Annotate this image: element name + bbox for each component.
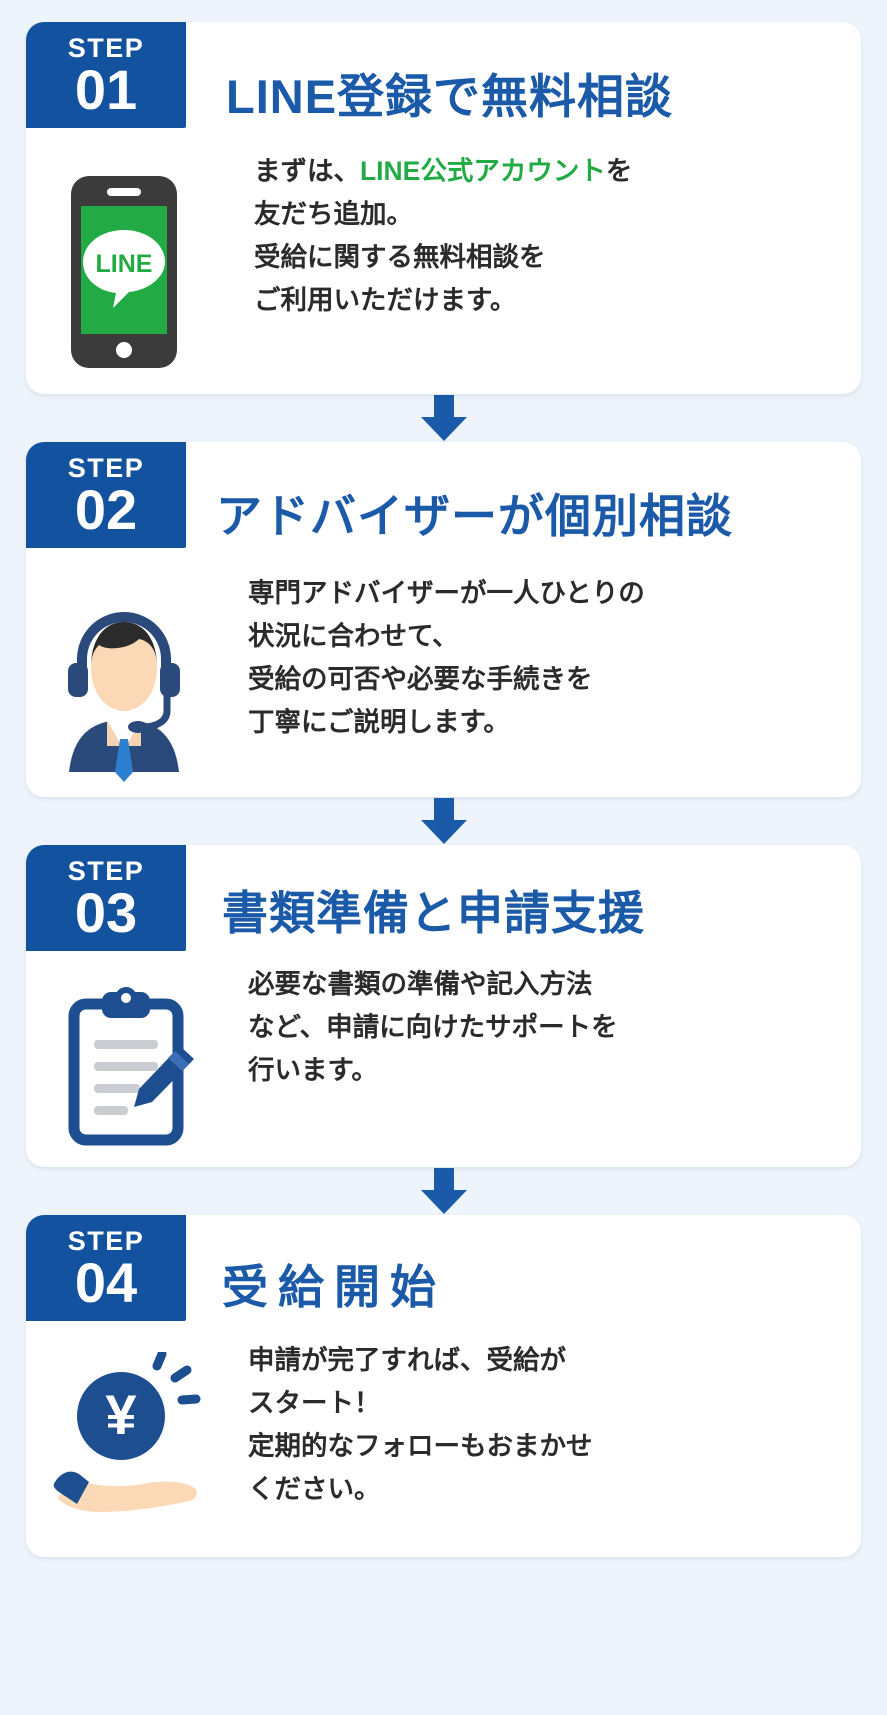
step-badge-number: 01 bbox=[26, 62, 186, 118]
desc-line: ご利用いただけます。 bbox=[254, 279, 632, 322]
headset-advisor-icon bbox=[44, 582, 204, 787]
step-title-3: 書類準備と申請支援 bbox=[222, 877, 645, 943]
step-card-1: STEP 01 LINE登録で無料相談 まずは、LINE公式アカウントを 友だち… bbox=[26, 22, 861, 394]
step-description-4: 申請が完了すれば、受給が スタート！ 定期的なフォローもおまかせ ください。 bbox=[248, 1339, 593, 1511]
steps-flow-diagram: STEP 01 LINE登録で無料相談 まずは、LINE公式アカウントを 友だち… bbox=[0, 0, 887, 1715]
arrow-step1-to-step2 bbox=[26, 394, 861, 442]
step-title-4: 受給開始 bbox=[222, 1251, 446, 1317]
step-title-1: LINE登録で無料相談 bbox=[226, 58, 673, 127]
desc-line: 受給の可否や必要な手続きを bbox=[248, 658, 645, 701]
desc-line: 定期的なフォローもおまかせ bbox=[248, 1425, 593, 1468]
arrow-step3-to-step4 bbox=[26, 1167, 861, 1215]
yen-coin-hand-icon: ¥ bbox=[44, 1347, 214, 1542]
step-title-2: アドバイザーが個別相談 bbox=[216, 480, 733, 546]
desc-line: 申請が完了すれば、受給が bbox=[248, 1339, 593, 1382]
step-badge-2: STEP 02 bbox=[26, 442, 186, 548]
step-description-1: まずは、LINE公式アカウントを 友だち追加。 受給に関する無料相談を ご利用い… bbox=[254, 150, 632, 322]
desc-line: まずは、LINE公式アカウントを bbox=[254, 150, 632, 193]
desc-line: 受給に関する無料相談を bbox=[254, 236, 632, 279]
step-description-2: 専門アドバイザーが一人ひとりの 状況に合わせて、 受給の可否や必要な手続きを 丁… bbox=[248, 572, 645, 744]
arrow-step2-to-step3 bbox=[26, 797, 861, 845]
desc-text: まずは、 bbox=[254, 156, 360, 186]
desc-line: ください。 bbox=[248, 1468, 593, 1511]
svg-text:¥: ¥ bbox=[105, 1383, 136, 1446]
step-card-3: STEP 03 書類準備と申請支援 必要な書類の準備や記入方法 など、申請に向け… bbox=[26, 845, 861, 1167]
desc-line: スタート！ bbox=[248, 1382, 593, 1425]
step-badge-3: STEP 03 bbox=[26, 845, 186, 951]
desc-line: 状況に合わせて、 bbox=[248, 615, 645, 658]
step-description-3: 必要な書類の準備や記入方法 など、申請に向けたサポートを 行います。 bbox=[248, 963, 618, 1092]
step-card-2: STEP 02 アドバイザーが個別相談 専門アドバイザーが一人ひとりの 状況に合… bbox=[26, 442, 861, 797]
step-badge-number: 02 bbox=[26, 482, 186, 538]
step-badge-number: 03 bbox=[26, 885, 186, 941]
desc-line: 専門アドバイザーが一人ひとりの bbox=[248, 572, 645, 615]
desc-line: 丁寧にご説明します。 bbox=[248, 701, 645, 744]
svg-text:LINE: LINE bbox=[96, 250, 153, 278]
desc-line: など、申請に向けたサポートを bbox=[248, 1006, 618, 1049]
desc-text-highlight: LINE公式アカウント bbox=[360, 156, 606, 186]
line-smartphone-icon: LINE bbox=[44, 164, 204, 379]
clipboard-pen-icon bbox=[52, 977, 212, 1157]
step-badge-number: 04 bbox=[26, 1255, 186, 1311]
desc-line: 友だち追加。 bbox=[254, 193, 632, 236]
desc-text: を bbox=[606, 156, 633, 186]
step-badge-1: STEP 01 bbox=[26, 22, 186, 128]
desc-line: 必要な書類の準備や記入方法 bbox=[248, 963, 618, 1006]
step-badge-4: STEP 04 bbox=[26, 1215, 186, 1321]
desc-line: 行います。 bbox=[248, 1049, 618, 1092]
step-card-4: STEP 04 受給開始 申請が完了すれば、受給が スタート！ 定期的なフォロー… bbox=[26, 1215, 861, 1557]
